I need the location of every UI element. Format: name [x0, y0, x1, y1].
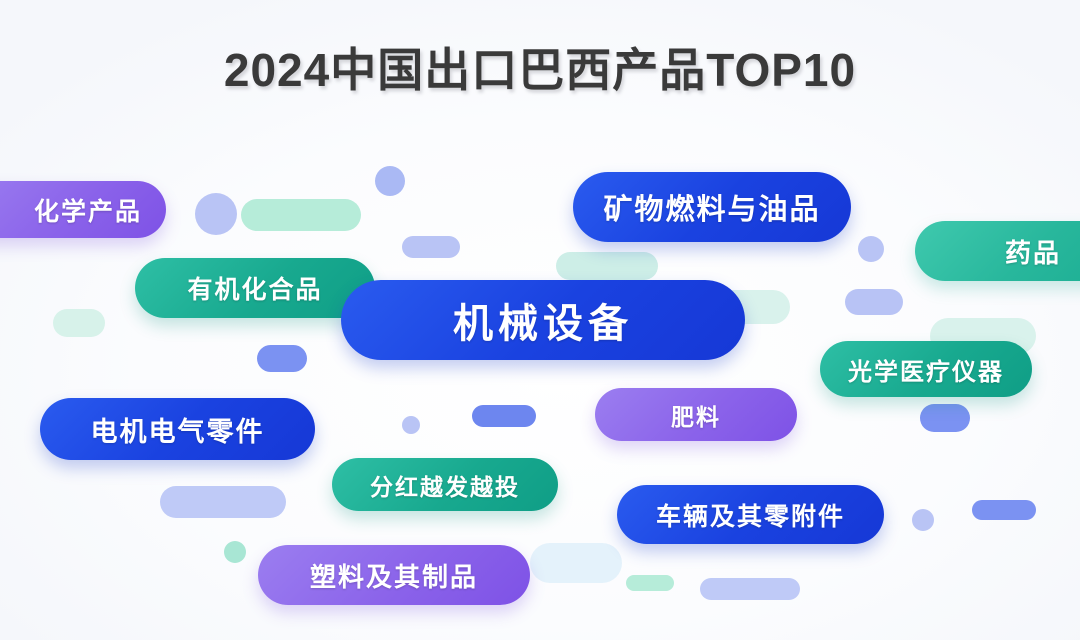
deco-rect-blue-3 — [920, 404, 970, 432]
deco-circle-periwinkle-5 — [858, 236, 884, 262]
pill-fertilizer-label: 肥料 — [671, 398, 721, 432]
pill-dividend[interactable]: 分红越发越投 — [332, 458, 558, 511]
deco-circle-periwinkle-3 — [402, 416, 420, 434]
page-title: 2024中国出口巴西产品TOP10 — [0, 34, 1080, 100]
deco-rect-periwinkle-3 — [700, 578, 800, 600]
pill-pharmaceuticals-label: 药品 — [1005, 233, 1061, 270]
deco-rect-mint-2 — [556, 252, 658, 280]
deco-rect-mint-5 — [845, 289, 903, 315]
pill-vehicles-and-parts-label: 车辆及其零附件 — [656, 497, 845, 533]
deco-rect-mint-7 — [626, 575, 674, 591]
deco-circle-periwinkle-4 — [912, 509, 934, 531]
pill-dividend-label: 分红越发越投 — [370, 468, 520, 502]
pill-chemicals[interactable]: 化学产品 — [0, 181, 166, 238]
pill-electric-motor-parts-label: 电机电气零件 — [91, 410, 265, 449]
pill-organic-compounds[interactable]: 有机化合品 — [135, 258, 375, 318]
deco-circle-mint-1 — [224, 541, 246, 563]
deco-rect-mint-1 — [241, 199, 361, 231]
pill-mineral-fuels[interactable]: 矿物燃料与油品 — [573, 172, 851, 242]
deco-rect-blue-2 — [472, 405, 536, 427]
deco-circle-periwinkle-1 — [195, 193, 237, 235]
deco-rect-periwinkle-1 — [402, 236, 460, 258]
deco-rect-blue-1 — [257, 345, 307, 372]
pill-plastics-and-products[interactable]: 塑料及其制品 — [258, 545, 530, 605]
pill-organic-compounds-label: 有机化合品 — [187, 270, 322, 306]
pill-mineral-fuels-label: 矿物燃料与油品 — [603, 186, 820, 228]
pill-pharmaceuticals[interactable]: 药品 — [915, 221, 1080, 281]
pill-machinery[interactable]: 机械设备 — [341, 280, 745, 360]
deco-circle-periwinkle-2 — [375, 166, 405, 196]
pill-vehicles-and-parts[interactable]: 车辆及其零附件 — [617, 485, 884, 544]
deco-rect-mint-8 — [530, 543, 622, 583]
pill-electric-motor-parts[interactable]: 电机电气零件 — [40, 398, 315, 460]
deco-rect-periwinkle-2 — [160, 486, 286, 518]
pill-plastics-and-products-label: 塑料及其制品 — [310, 557, 478, 594]
pill-chemicals-label: 化学产品 — [34, 192, 142, 228]
pill-fertilizer[interactable]: 肥料 — [595, 388, 797, 441]
deco-rect-mint-4 — [53, 309, 105, 337]
pill-machinery-label: 机械设备 — [453, 291, 633, 349]
pill-optical-medical-instruments-label: 光学医疗仪器 — [848, 352, 1004, 387]
deco-rect-blue-4 — [972, 500, 1036, 520]
infographic-canvas: 2024中国出口巴西产品TOP10 化学产品 有机化合品 矿物燃料与油品 机械设… — [0, 0, 1080, 640]
pill-optical-medical-instruments[interactable]: 光学医疗仪器 — [820, 341, 1032, 397]
